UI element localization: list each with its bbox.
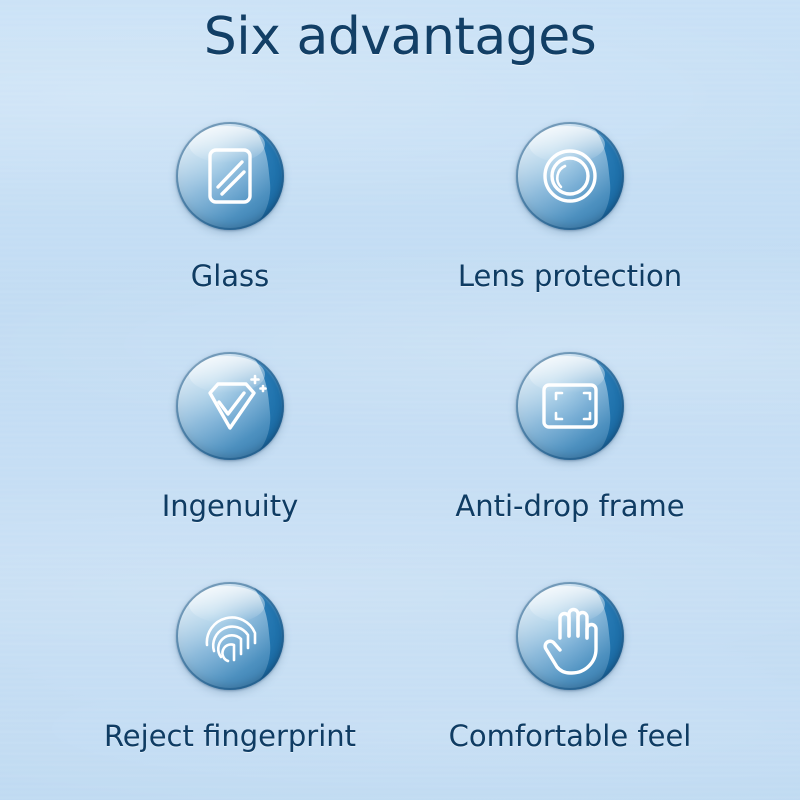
page-title: Six advantages <box>0 6 800 68</box>
anti-drop-frame-button[interactable] <box>506 342 634 470</box>
features-grid: Glass Lens protection <box>60 100 740 790</box>
reject-fingerprint-button[interactable] <box>166 572 294 700</box>
feature-item-reject-fingerprint[interactable]: Reject fingerprint <box>60 560 400 790</box>
feature-label: Ingenuity <box>162 488 299 524</box>
feature-label: Reject fingerprint <box>104 718 356 754</box>
button-face <box>516 122 624 230</box>
feature-item-glass[interactable]: Glass <box>60 100 400 330</box>
button-face <box>176 122 284 230</box>
button-face <box>176 352 284 460</box>
feature-label: Anti-drop frame <box>455 488 684 524</box>
feature-item-ingenuity[interactable]: Ingenuity <box>60 330 400 560</box>
advantages-infographic: Six advantages Glass <box>0 0 800 800</box>
feature-item-comfortable-feel[interactable]: Comfortable feel <box>400 560 740 790</box>
button-face <box>516 582 624 690</box>
lens-protection-button[interactable] <box>506 112 634 240</box>
feature-label: Comfortable feel <box>449 718 692 754</box>
feature-label: Lens protection <box>458 258 682 294</box>
button-face <box>176 582 284 690</box>
button-face <box>516 352 624 460</box>
ingenuity-button[interactable] <box>166 342 294 470</box>
comfortable-feel-button[interactable] <box>506 572 634 700</box>
feature-item-lens-protection[interactable]: Lens protection <box>400 100 740 330</box>
feature-item-anti-drop-frame[interactable]: Anti-drop frame <box>400 330 740 560</box>
feature-label: Glass <box>191 258 270 294</box>
glass-button[interactable] <box>166 112 294 240</box>
